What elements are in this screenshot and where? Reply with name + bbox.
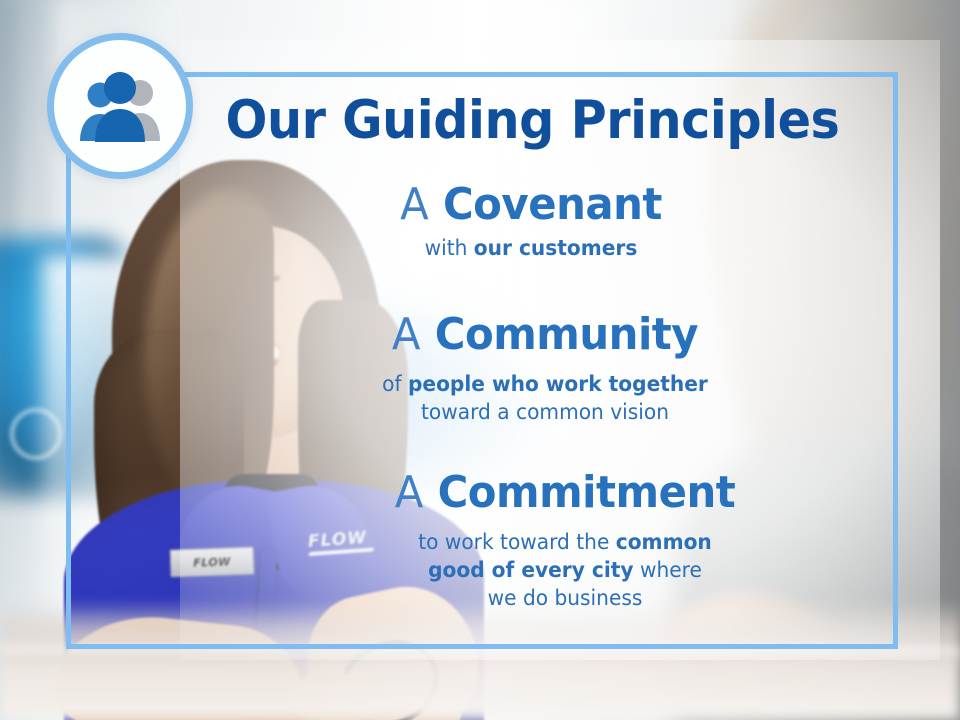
principle-community-subtext: of people who work togethertoward a comm… bbox=[214, 370, 876, 426]
subtext-line: good of every city where bbox=[253, 556, 877, 584]
principle-covenant-subtext: with our customers bbox=[213, 234, 849, 262]
page-title: Our Guiding Principles bbox=[223, 94, 841, 148]
principle-covenant: A Covenant with our customers bbox=[200, 182, 890, 262]
subtext-line: we do business bbox=[253, 584, 877, 612]
subtext-emphasis: our customers bbox=[474, 236, 638, 260]
subtext-line: of people who work together bbox=[214, 370, 876, 398]
guiding-principles-poster: FLOW FLOW bbox=[0, 0, 960, 720]
people-group-badge bbox=[47, 33, 193, 179]
principle-commitment-word: Commitment bbox=[438, 467, 736, 518]
principle-covenant-headline: A Covenant bbox=[217, 182, 846, 228]
subtext-run: we do business bbox=[488, 586, 643, 610]
principle-commitment-headline: A Commitment bbox=[256, 470, 874, 516]
subtext-emphasis: people who work together bbox=[408, 372, 708, 396]
subtext-line: to work toward the common bbox=[253, 528, 877, 556]
principle-community-word: Community bbox=[435, 309, 698, 360]
principle-community-headline: A Community bbox=[217, 312, 873, 358]
subtext-run: toward a common vision bbox=[421, 400, 669, 424]
subtext-emphasis: common bbox=[616, 530, 712, 554]
subtext-run: to work toward the bbox=[418, 530, 616, 554]
people-group-icon bbox=[74, 69, 166, 143]
subtext-emphasis: good of every city bbox=[428, 558, 633, 582]
subtext-line: toward a common vision bbox=[214, 398, 876, 426]
principle-community: A Community of people who work togethert… bbox=[200, 312, 890, 426]
principle-commitment: A Commitment to work toward the commongo… bbox=[200, 470, 890, 613]
subtext-run: where bbox=[634, 558, 702, 582]
subtext-run: of bbox=[382, 372, 408, 396]
principle-covenant-word: Covenant bbox=[443, 179, 662, 230]
principle-commitment-subtext: to work toward the commongood of every c… bbox=[253, 528, 877, 612]
principle-covenant-article: A bbox=[400, 179, 430, 230]
principle-community-article: A bbox=[392, 309, 422, 360]
subtext-line: with our customers bbox=[213, 234, 849, 262]
principle-commitment-article: A bbox=[395, 467, 425, 518]
desk-edge-highlight bbox=[0, 648, 960, 660]
poster-content: Our Guiding Principles A Covenant with o… bbox=[200, 72, 890, 649]
subtext-run: with bbox=[425, 236, 474, 260]
